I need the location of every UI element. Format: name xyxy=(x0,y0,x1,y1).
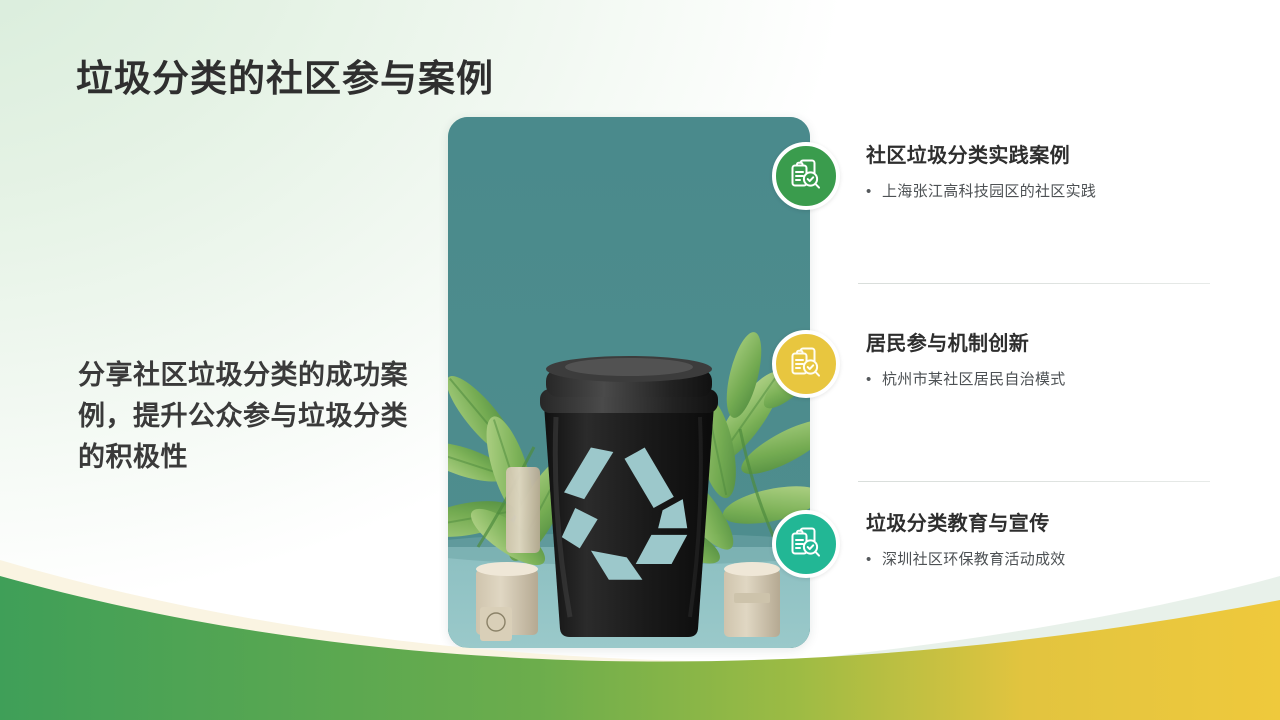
case-list: 社区垃圾分类实践案例 • 上海张江高科技园区的社区实践 xyxy=(772,117,1220,648)
list-item-title: 居民参与机制创新 xyxy=(866,330,1220,358)
recycling-bin-illustration xyxy=(448,117,810,648)
clipboard-search-check-icon-badge[interactable] xyxy=(772,330,840,398)
page-title: 垃圾分类的社区参与案例 xyxy=(76,48,494,102)
list-item-detail: 深圳社区环保教育活动成效 xyxy=(882,549,1066,571)
list-divider xyxy=(858,283,1210,284)
list-item-text: 垃圾分类教育与宣传 • 深圳社区环保教育活动成效 xyxy=(866,510,1220,571)
list-item-title: 垃圾分类教育与宣传 xyxy=(866,510,1220,538)
slide-root: 垃圾分类的社区参与案例 分享社区垃圾分类的成功案例，提升公众参与垃圾分类的积极性 xyxy=(0,0,1280,720)
photo-card xyxy=(448,117,810,648)
clipboard-search-check-icon xyxy=(787,525,825,563)
list-divider xyxy=(858,481,1210,482)
bullet-marker: • xyxy=(866,549,882,571)
recycling-bin xyxy=(540,356,718,637)
list-item-bullet: • 上海张江高科技园区的社区实践 xyxy=(866,181,1220,203)
list-item[interactable]: 居民参与机制创新 • 杭州市某社区居民自治模式 xyxy=(772,330,1220,420)
clipboard-search-check-icon-badge[interactable] xyxy=(772,142,840,210)
lead-paragraph: 分享社区垃圾分类的成功案例，提升公众参与垃圾分类的积极性 xyxy=(78,355,408,478)
list-item-detail: 杭州市某社区居民自治模式 xyxy=(882,369,1066,391)
list-item-text: 社区垃圾分类实践案例 • 上海张江高科技园区的社区实践 xyxy=(866,142,1220,203)
list-item-bullet: • 深圳社区环保教育活动成效 xyxy=(866,549,1220,571)
clipboard-search-check-icon-badge[interactable] xyxy=(772,510,840,578)
list-item-detail: 上海张江高科技园区的社区实践 xyxy=(882,181,1096,203)
list-item[interactable]: 垃圾分类教育与宣传 • 深圳社区环保教育活动成效 xyxy=(772,510,1220,600)
list-item-title: 社区垃圾分类实践案例 xyxy=(866,142,1220,170)
list-item-text: 居民参与机制创新 • 杭州市某社区居民自治模式 xyxy=(866,330,1220,391)
clipboard-search-check-icon xyxy=(787,345,825,383)
bullet-marker: • xyxy=(866,181,882,203)
bullet-marker: • xyxy=(866,369,882,391)
clipboard-search-check-icon xyxy=(787,157,825,195)
list-item-bullet: • 杭州市某社区居民自治模式 xyxy=(866,369,1220,391)
list-item[interactable]: 社区垃圾分类实践案例 • 上海张江高科技园区的社区实践 xyxy=(772,142,1220,232)
